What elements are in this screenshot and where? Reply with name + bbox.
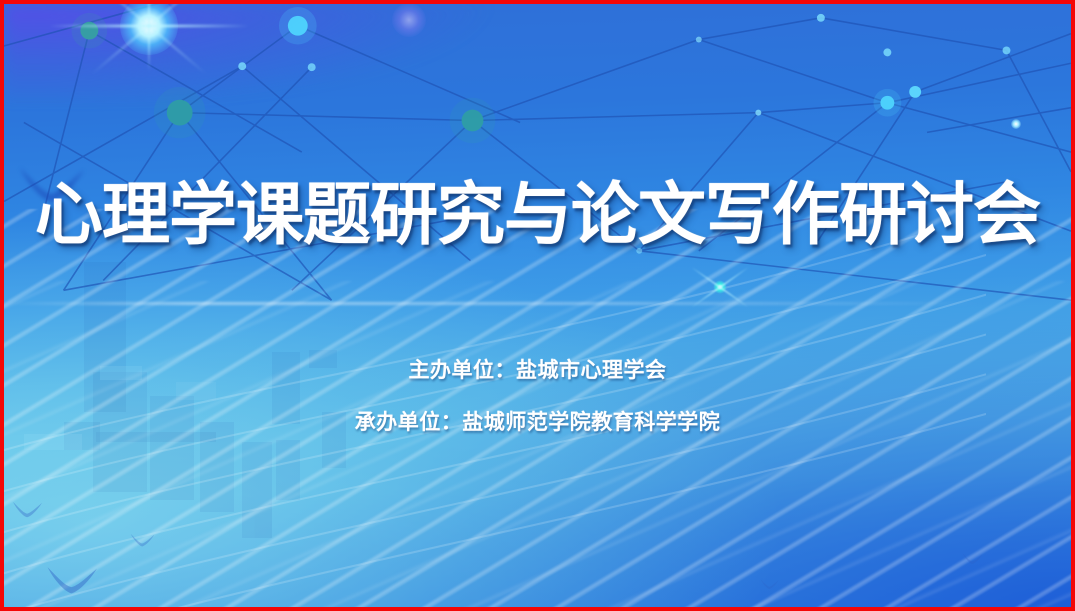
page-title: 心理学课题研究与论文写作研讨会 <box>4 182 1071 250</box>
co-organizer-line: 承办单位：盐城师范学院教育科学学院 <box>4 411 1071 434</box>
organizer-block: 主办单位：盐城市心理学会 承办单位：盐城师范学院教育科学学院 <box>4 359 1071 433</box>
slide-content: 心理学课题研究与论文写作研讨会 主办单位：盐城市心理学会 承办单位：盐城师范学院… <box>4 4 1071 607</box>
presentation-slide: 心理学课题研究与论文写作研讨会 主办单位：盐城市心理学会 承办单位：盐城师范学院… <box>0 0 1075 611</box>
host-organization-line: 主办单位：盐城市心理学会 <box>4 359 1071 382</box>
